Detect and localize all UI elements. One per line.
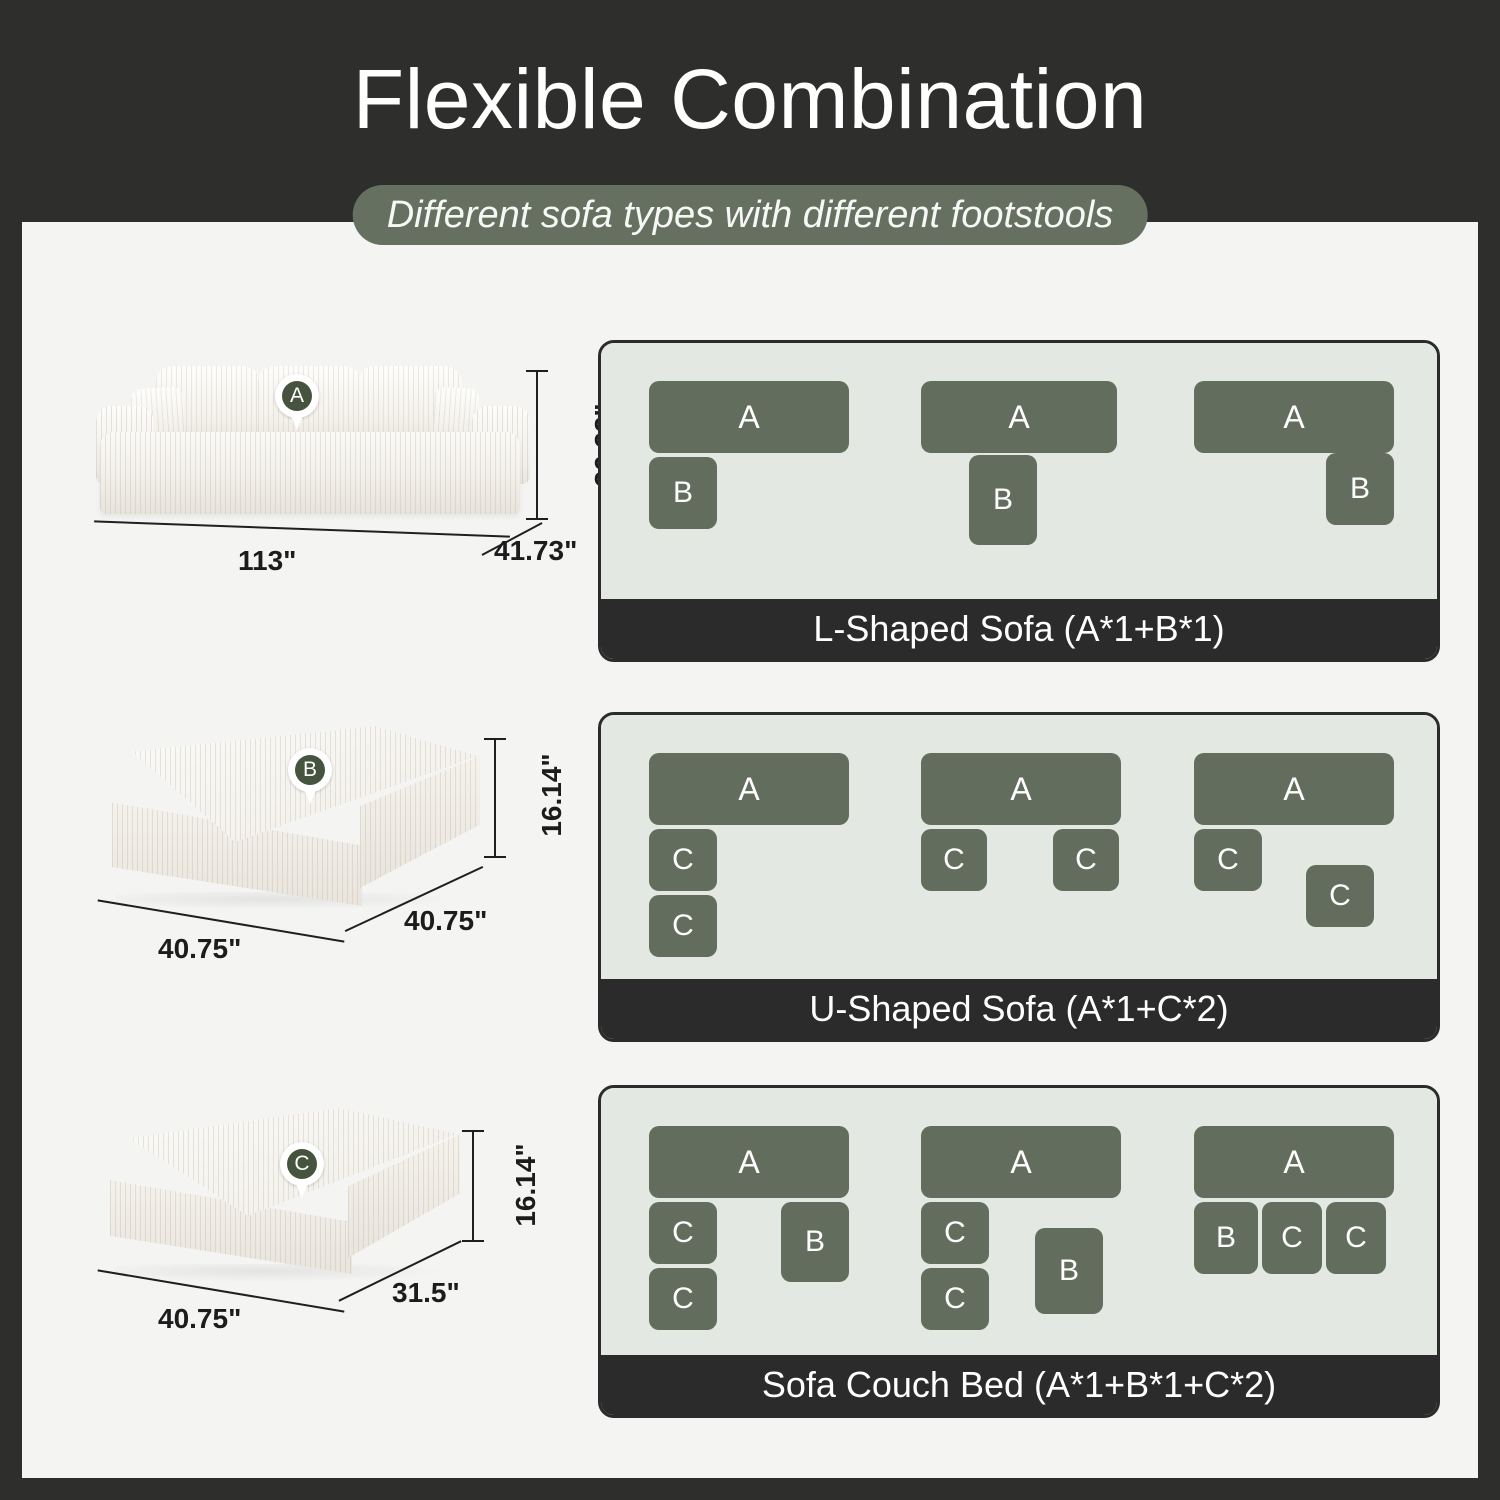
module-block-b: B — [969, 455, 1037, 545]
dim-label-width-a: 113" — [238, 546, 296, 576]
module-block-c: C — [1194, 829, 1262, 891]
dim-line-height-c — [472, 1130, 474, 1242]
module-block-c: C — [921, 1202, 989, 1264]
panel-caption-text-1: L-Shaped Sofa (A*1+B*1) — [813, 610, 1224, 648]
panel-caption-3: Sofa Couch Bed (A*1+B*1+C*2) — [601, 1355, 1437, 1415]
combination-panel-l-shaped: ABABAB L-Shaped Sofa (A*1+B*1) — [598, 340, 1440, 662]
module-block-c: C — [649, 1202, 717, 1264]
panel-caption-text-3: Sofa Couch Bed (A*1+B*1+C*2) — [762, 1366, 1276, 1404]
module-block-c: C — [649, 1268, 717, 1330]
pin-label-c: C — [294, 1153, 309, 1174]
page-title: Flexible Combination — [0, 52, 1500, 146]
dim-tick-bottom-b — [484, 856, 506, 858]
panel-stage-1: ABABAB — [601, 343, 1437, 599]
module-block-a: A — [649, 381, 849, 453]
module-block-c: C — [921, 829, 987, 891]
module-block-c: C — [649, 829, 717, 891]
dim-line-height-b — [494, 738, 496, 858]
panel-caption-1: L-Shaped Sofa (A*1+B*1) — [601, 599, 1437, 659]
product-card-a: A 113" 41.73" 36.22" — [60, 350, 580, 600]
module-block-a: A — [921, 1126, 1121, 1198]
dim-tick-top-a — [526, 370, 548, 372]
module-block-a: A — [921, 381, 1117, 453]
module-block-a: A — [1194, 753, 1394, 825]
module-block-b: B — [649, 457, 717, 529]
module-block-c: C — [1326, 1202, 1386, 1274]
module-block-a: A — [649, 1126, 849, 1198]
dim-tick-bottom-a — [526, 518, 548, 520]
module-block-b: B — [1194, 1202, 1258, 1274]
module-block-c: C — [921, 1268, 989, 1330]
panel-stage-3: ACCBACCBABCC — [601, 1088, 1437, 1355]
dim-label-width-b: 40.75" — [158, 934, 241, 964]
pin-label-a: A — [290, 385, 304, 406]
module-block-a: A — [1194, 381, 1394, 453]
module-block-c: C — [1306, 865, 1374, 927]
pin-label-b: B — [303, 759, 317, 780]
module-block-c: C — [1053, 829, 1119, 891]
pin-marker-a: A — [275, 374, 319, 432]
panel-stage-2: ACCACCACC — [601, 715, 1437, 979]
infographic-page: Flexible Combination Different sofa type… — [0, 0, 1500, 1500]
module-block-c: C — [649, 895, 717, 957]
dim-label-width-c: 40.75" — [158, 1304, 241, 1334]
dim-label-height-b: 16.14" — [537, 735, 567, 855]
dim-label-depth-a: 41.73" — [494, 536, 577, 566]
module-block-c: C — [1262, 1202, 1322, 1274]
subtitle-text: Different sofa types with different foot… — [387, 195, 1114, 235]
content-canvas: A 113" 41.73" 36.22" — [22, 222, 1478, 1478]
panel-caption-2: U-Shaped Sofa (A*1+C*2) — [601, 979, 1437, 1039]
pin-marker-c: C — [280, 1142, 324, 1200]
module-block-a: A — [1194, 1126, 1394, 1198]
dim-line-height-a — [536, 370, 538, 520]
product-card-b: B 40.75" 40.75" 16.14" — [60, 720, 580, 970]
module-block-b: B — [1035, 1228, 1103, 1314]
subtitle-pill: Different sofa types with different foot… — [353, 185, 1148, 245]
module-block-a: A — [649, 753, 849, 825]
module-block-b: B — [1326, 453, 1394, 525]
module-block-b: B — [781, 1202, 849, 1282]
pin-marker-b: B — [288, 748, 332, 806]
panel-caption-text-2: U-Shaped Sofa (A*1+C*2) — [809, 990, 1228, 1028]
ottoman-b-illustration: B — [60, 720, 580, 970]
dim-tick-top-c — [462, 1130, 484, 1132]
dim-label-height-c: 16.14" — [511, 1129, 541, 1241]
dim-label-depth-b: 40.75" — [404, 906, 487, 936]
module-block-a: A — [921, 753, 1121, 825]
dim-tick-top-b — [484, 738, 506, 740]
product-card-c: C 40.75" 31.5" 16.14" — [60, 1094, 580, 1344]
dim-tick-bottom-c — [462, 1240, 484, 1242]
combination-panel-couch-bed: ACCBACCBABCC Sofa Couch Bed (A*1+B*1+C*2… — [598, 1085, 1440, 1418]
combination-panel-u-shaped: ACCACCACC U-Shaped Sofa (A*1+C*2) — [598, 712, 1440, 1042]
dim-label-depth-c: 31.5" — [392, 1278, 460, 1308]
